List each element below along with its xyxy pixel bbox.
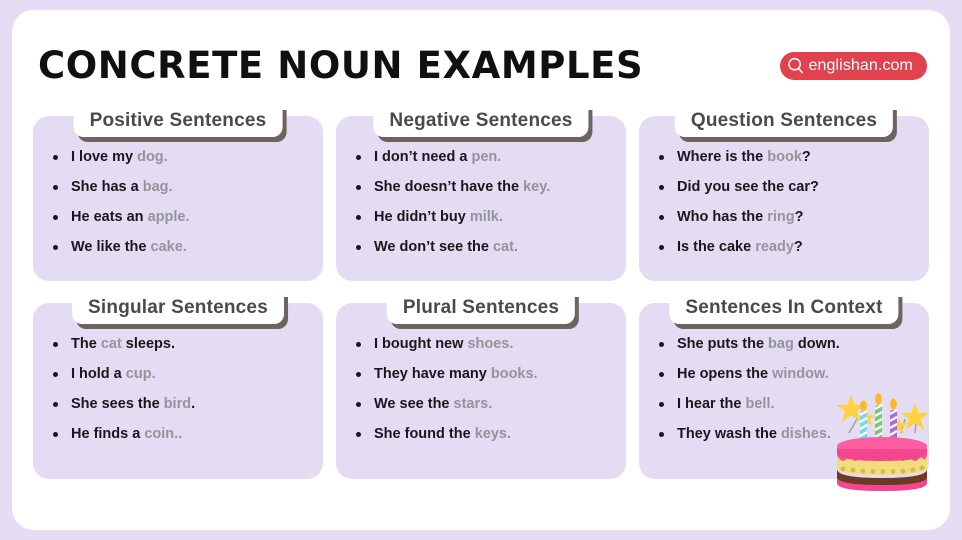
list-item: I love my dog. — [67, 150, 313, 166]
highlighted-noun: shoes. — [467, 336, 513, 352]
sentence-card: Singular SentencesThe cat sleeps. I hold… — [33, 303, 323, 479]
sentence-text: sleeps. — [122, 336, 175, 352]
sentence-list: I don’t need a pen. She doesn’t have the… — [336, 150, 626, 256]
sentence-card: Plural SentencesI bought new shoes. They… — [336, 303, 626, 479]
sentence-text: He eats an — [71, 209, 148, 225]
card-title: Plural Sentences — [403, 297, 559, 319]
sentence-text: Is the cake — [677, 239, 755, 255]
sentence-text: They wash the — [677, 426, 781, 442]
card-tab: Negative Sentences — [373, 105, 588, 139]
sentence-text: She found the — [374, 426, 475, 442]
cards-grid: Positive SentencesI love my dog. She has… — [33, 116, 929, 479]
sentence-text: We don’t see the — [374, 239, 493, 255]
sentence-text: Where is the — [677, 149, 767, 165]
highlighted-noun: coin.. — [144, 426, 182, 442]
list-item: I hear the bell. — [673, 397, 919, 413]
sentence-card: Positive SentencesI love my dog. She has… — [33, 116, 323, 281]
highlighted-noun: cat. — [493, 239, 518, 255]
sentence-text: She doesn’t have the — [374, 179, 523, 195]
card-tab: Plural Sentences — [387, 292, 575, 326]
card-tab-plate: Positive Sentences — [74, 105, 283, 137]
highlighted-noun: bird — [164, 396, 191, 412]
highlighted-noun: book — [767, 149, 802, 165]
highlighted-noun: bag. — [143, 179, 173, 195]
list-item: He didn’t buy milk. — [370, 210, 616, 226]
highlighted-noun: ready — [755, 239, 794, 255]
list-item: She doesn’t have the key. — [370, 180, 616, 196]
list-item: She has a bag. — [67, 180, 313, 196]
highlighted-noun: cake. — [151, 239, 187, 255]
highlighted-noun: ring — [767, 209, 794, 225]
highlighted-noun: pen. — [471, 149, 501, 165]
list-item: The cat sleeps. — [67, 337, 313, 353]
list-item: We don’t see the cat. — [370, 240, 616, 256]
sentence-text: We see the — [374, 396, 454, 412]
card-title: Sentences In Context — [685, 297, 882, 319]
sentence-text: I don’t need a — [374, 149, 471, 165]
sentence-card: Negative SentencesI don’t need a pen. Sh… — [336, 116, 626, 281]
sentence-text: She sees the — [71, 396, 164, 412]
list-item: Who has the ring? — [673, 210, 919, 226]
sentence-text: ? — [802, 149, 811, 165]
card-tab-plate: Singular Sentences — [72, 292, 284, 324]
sentence-text: Did you see the car? — [677, 179, 819, 195]
highlighted-noun: apple. — [148, 209, 190, 225]
card-title: Singular Sentences — [88, 297, 268, 319]
brand-label: englishan.com — [809, 58, 913, 74]
sentence-text: We like the — [71, 239, 151, 255]
list-item: I hold a cup. — [67, 367, 313, 383]
list-item: Is the cake ready? — [673, 240, 919, 256]
list-item: They have many books. — [370, 367, 616, 383]
highlighted-noun: stars. — [454, 396, 493, 412]
sentence-text: . — [191, 396, 195, 412]
card-tab: Sentences In Context — [669, 292, 898, 326]
sentence-text: They have many — [374, 366, 491, 382]
list-item: She puts the bag down. — [673, 337, 919, 353]
highlighted-noun: dog. — [137, 149, 168, 165]
sentence-text: He opens the — [677, 366, 772, 382]
card-tab-plate: Sentences In Context — [669, 292, 898, 324]
brand-badge[interactable]: englishan.com — [780, 52, 927, 80]
list-item: I don’t need a pen. — [370, 150, 616, 166]
list-item: She sees the bird. — [67, 397, 313, 413]
page-title: CONCRETE NOUN EXAMPLES — [38, 44, 643, 87]
sentence-text: He didn’t buy — [374, 209, 470, 225]
highlighted-noun: window. — [772, 366, 829, 382]
sentence-list: The cat sleeps. I hold a cup. She sees t… — [33, 337, 323, 443]
list-item: They wash the dishes. — [673, 427, 919, 443]
card-title: Question Sentences — [691, 110, 877, 132]
highlighted-noun: dishes. — [781, 426, 831, 442]
sentence-list: I bought new shoes. They have many books… — [336, 337, 626, 443]
card-tab: Positive Sentences — [74, 105, 283, 139]
sentence-text: She puts the — [677, 336, 768, 352]
list-item: Did you see the car? — [673, 180, 919, 196]
sentence-text: He finds a — [71, 426, 144, 442]
sentence-list: I love my dog. She has a bag. He eats an… — [33, 150, 323, 256]
highlighted-noun: bell. — [746, 396, 775, 412]
sentence-list: She puts the bag down. He opens the wind… — [639, 337, 929, 443]
card-tab: Singular Sentences — [72, 292, 284, 326]
highlighted-noun: milk. — [470, 209, 503, 225]
list-item: Where is the book? — [673, 150, 919, 166]
card-tab-plate: Negative Sentences — [373, 105, 588, 137]
card-tab-plate: Plural Sentences — [387, 292, 575, 324]
highlighted-noun: books. — [491, 366, 538, 382]
sentence-text: Who has the — [677, 209, 767, 225]
sentence-text: She has a — [71, 179, 143, 195]
search-icon — [786, 56, 806, 76]
highlighted-noun: keys. — [475, 426, 511, 442]
sentence-text: ? — [795, 209, 804, 225]
highlighted-noun: key. — [523, 179, 550, 195]
card-title: Negative Sentences — [389, 110, 572, 132]
list-item: She found the keys. — [370, 427, 616, 443]
sentence-text: I love my — [71, 149, 137, 165]
highlighted-noun: cat — [101, 336, 122, 352]
list-item: He opens the window. — [673, 367, 919, 383]
list-item: He finds a coin.. — [67, 427, 313, 443]
sentence-text: down. — [794, 336, 840, 352]
list-item: We like the cake. — [67, 240, 313, 256]
sentence-text: The — [71, 336, 101, 352]
sentence-card: Sentences In ContextShe puts the bag dow… — [639, 303, 929, 479]
poster-header: CONCRETE NOUN EXAMPLES englishan.com — [12, 10, 950, 102]
list-item: I bought new shoes. — [370, 337, 616, 353]
list-item: He eats an apple. — [67, 210, 313, 226]
highlighted-noun: bag — [768, 336, 794, 352]
card-tab-plate: Question Sentences — [675, 105, 893, 137]
highlighted-noun: cup. — [126, 366, 156, 382]
card-title: Positive Sentences — [90, 110, 267, 132]
sentence-text: ? — [794, 239, 803, 255]
card-tab: Question Sentences — [675, 105, 893, 139]
sentence-text: I bought new — [374, 336, 467, 352]
sentence-text: I hear the — [677, 396, 746, 412]
sentence-text: I hold a — [71, 366, 126, 382]
poster-sheet: CONCRETE NOUN EXAMPLES englishan.com Pos… — [12, 10, 950, 530]
sentence-list: Where is the book? Did you see the car? … — [639, 150, 929, 256]
sentence-card: Question SentencesWhere is the book? Did… — [639, 116, 929, 281]
list-item: We see the stars. — [370, 397, 616, 413]
